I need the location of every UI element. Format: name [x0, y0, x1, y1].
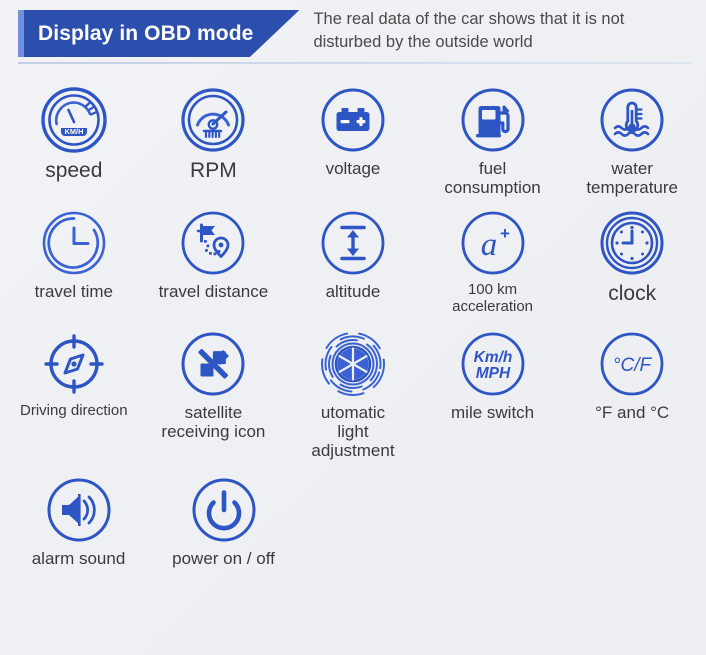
feature-item-acceleration-100km[interactable]: a + 100 km acceleration [423, 197, 563, 316]
feature-label-power-on-off: power on / off [172, 549, 275, 568]
feature-grid: KM/H speed [0, 70, 706, 568]
feature-item-satellite-receiving[interactable]: satellite receiving icon [144, 316, 284, 441]
water-temperature-icon [596, 84, 668, 156]
acceleration-plus-sign: + [500, 224, 510, 243]
feature-label-clock: clock [608, 282, 656, 306]
feature-label-temperature-unit: °F and °C [595, 403, 669, 422]
feature-item-alarm-sound[interactable]: alarm sound [6, 460, 151, 568]
obd-mode-banner: Display in OBD mode [18, 10, 299, 57]
celsius-fahrenheit-icon: °C/F [596, 328, 668, 400]
feature-row-1: KM/H speed [4, 76, 702, 197]
feature-label-acceleration-100km: 100 km acceleration [452, 282, 533, 316]
feature-label-line-2: receiving icon [161, 422, 265, 441]
feature-item-travel-distance[interactable]: travel distance [144, 197, 284, 301]
feature-label-line-1: utomatic [311, 403, 394, 422]
compass-crosshair-icon [38, 328, 110, 400]
feature-row-4: alarm sound power on / off [4, 460, 702, 568]
satellite-icon [177, 328, 249, 400]
feature-row-2: travel time [4, 197, 702, 316]
power-button-icon [188, 474, 260, 546]
feature-label-voltage: voltage [326, 159, 381, 178]
feature-label-travel-distance: travel distance [159, 282, 269, 301]
feature-item-voltage[interactable]: voltage [283, 76, 423, 178]
feature-row-3: Driving direction satellite receiving ic… [4, 316, 702, 460]
header-divider [18, 62, 692, 64]
feature-label-line-1: 100 km [452, 282, 533, 299]
feature-item-fuel-consumption[interactable]: fuel consumption [423, 76, 563, 197]
feature-label-line-3: adjustment [311, 441, 394, 460]
speedometer-unit-text: KM/H [64, 127, 83, 136]
feature-label-altitude: altitude [326, 282, 381, 301]
feature-label-line-1: water [586, 159, 678, 178]
fuel-pump-icon [457, 84, 529, 156]
rpm-gauge-icon [177, 84, 249, 156]
feature-label-line-2: light [311, 422, 394, 441]
aperture-iris-icon [317, 328, 389, 400]
banner-accent-bar [18, 10, 24, 57]
temperature-unit-text: °C/F [613, 355, 653, 376]
banner-title: Display in OBD mode [38, 22, 253, 46]
altitude-arrows-icon [317, 207, 389, 279]
header-description-line1: The real data of the car shows that it i… [313, 8, 624, 31]
kmh-mph-icon: Km/h MPH [457, 328, 529, 400]
feature-label-water-temperature: water temperature [586, 159, 678, 197]
clock-dial-icon [596, 207, 668, 279]
feature-label-mile-switch: mile switch [451, 403, 534, 422]
feature-label-line-2: consumption [444, 178, 540, 197]
feature-item-temperature-unit[interactable]: °C/F °F and °C [562, 316, 702, 422]
feature-label-driving-direction: Driving direction [20, 403, 128, 420]
feature-label-satellite-receiving: satellite receiving icon [161, 403, 265, 441]
feature-label-automatic-light-adjustment: utomatic light adjustment [311, 403, 394, 460]
unit-kmh-text: Km/h [473, 349, 512, 366]
feature-item-automatic-light-adjustment[interactable]: utomatic light adjustment [283, 316, 423, 460]
feature-item-speed[interactable]: KM/H speed [4, 76, 144, 183]
clock-outline-icon [38, 207, 110, 279]
header-description-line2: disturbed by the outside world [313, 31, 624, 54]
feature-item-water-temperature[interactable]: water temperature [562, 76, 702, 197]
feature-item-clock[interactable]: clock [562, 197, 702, 306]
feature-label-line-1: satellite [161, 403, 265, 422]
feature-label-line-1: fuel [444, 159, 540, 178]
flag-route-pin-icon [177, 207, 249, 279]
feature-item-mile-switch[interactable]: Km/h MPH mile switch [423, 316, 563, 422]
acceleration-a-plus-icon: a + [457, 207, 529, 279]
feature-label-line-2: acceleration [452, 299, 533, 316]
feature-item-rpm[interactable]: RPM [144, 76, 284, 183]
page-header: Display in OBD mode The real data of the… [0, 0, 706, 70]
battery-icon [317, 84, 389, 156]
header-description: The real data of the car shows that it i… [313, 8, 624, 55]
feature-label-speed: speed [45, 159, 102, 183]
feature-label-fuel-consumption: fuel consumption [444, 159, 540, 197]
feature-item-travel-time[interactable]: travel time [4, 197, 144, 301]
speaker-sound-icon [43, 474, 115, 546]
feature-label-travel-time: travel time [35, 282, 113, 301]
feature-label-line-2: temperature [586, 178, 678, 197]
banner-parallelogram: Display in OBD mode [24, 10, 299, 57]
feature-item-power-on-off[interactable]: power on / off [151, 460, 296, 568]
feature-label-rpm: RPM [190, 159, 237, 183]
feature-item-driving-direction[interactable]: Driving direction [4, 316, 144, 420]
feature-label-alarm-sound: alarm sound [32, 549, 126, 568]
feature-item-altitude[interactable]: altitude [283, 197, 423, 301]
acceleration-letter-a: a [480, 227, 497, 263]
unit-mph-text: MPH [475, 365, 510, 382]
speedometer-icon: KM/H [38, 84, 110, 156]
